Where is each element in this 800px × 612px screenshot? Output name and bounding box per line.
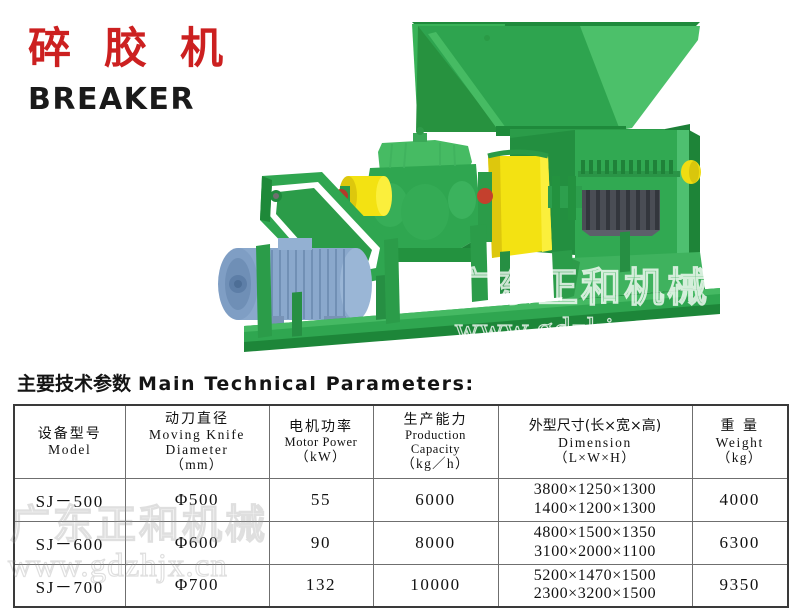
cell-model: SJ－600 [14, 521, 125, 564]
cell-knife-diameter: Φ700 [125, 564, 269, 607]
header-motor-power-en: Motor Power [271, 435, 372, 449]
header-model: 设备型号 Model [14, 405, 125, 479]
header-weight-cn: 重 量 [694, 419, 787, 435]
title-block: 碎 胶 机 BREAKER [28, 28, 232, 115]
page-title-english: BREAKER [28, 85, 232, 115]
header-model-cn: 设备型号 [16, 427, 124, 443]
cell-weight: 6300 [692, 521, 788, 564]
header-dimension-en: Dimension [500, 435, 691, 450]
header-weight-en: Weight [694, 435, 787, 450]
header-capacity-en: Production [375, 428, 497, 442]
cell-model: SJ－500 [14, 479, 125, 522]
cell-dimension-line2: 2300×3200×1500 [500, 585, 691, 604]
cell-dimension: 3800×1250×1300 1400×1200×1300 [498, 479, 692, 522]
header-capacity-unit: （kg／h） [375, 456, 497, 471]
cell-dimension: 5200×1470×1500 2300×3200×1500 [498, 564, 692, 607]
cell-weight: 9350 [692, 564, 788, 607]
table-row: SJ－500 Φ500 55 6000 3800×1250×1300 1400×… [14, 479, 788, 522]
section-heading-chinese: 主要技术参数 [17, 373, 131, 395]
section-heading-english: Main Technical Parameters: [138, 373, 475, 395]
header-knife-diameter-en2: Diameter [127, 442, 268, 457]
header-knife-diameter-en: Moving Knife [127, 427, 268, 442]
cell-capacity: 10000 [373, 564, 498, 607]
cell-dimension-line2: 3100×2000×1100 [500, 543, 691, 562]
cell-knife-diameter: Φ500 [125, 479, 269, 522]
cell-dimension-line2: 1400×1200×1300 [500, 500, 691, 519]
header-knife-diameter-unit: （mm） [127, 457, 268, 472]
header-dimension-cn: 外型尺寸(长×宽×高) [500, 419, 691, 435]
cell-dimension-line1: 3800×1250×1300 [500, 481, 691, 500]
machine-illustration [200, 0, 800, 360]
table-row: SJ－700 Φ700 132 10000 5200×1470×1500 230… [14, 564, 788, 607]
cutter-blades [582, 190, 660, 236]
cell-dimension-line1: 5200×1470×1500 [500, 567, 691, 586]
header-dimension: 外型尺寸(长×宽×高) Dimension （L×W×H） [498, 405, 692, 479]
cell-capacity: 8000 [373, 521, 498, 564]
table-row: SJ－600 Φ600 90 8000 4800×1500×1350 3100×… [14, 521, 788, 564]
header-weight-unit: （kg） [694, 450, 787, 465]
header-motor-power: 电机功率 Motor Power （kW） [269, 405, 373, 479]
page-title-chinese: 碎 胶 机 [28, 28, 232, 71]
table-header-row: 设备型号 Model 动刀直径 Moving Knife Diameter （m… [14, 405, 788, 479]
header-knife-diameter-cn: 动刀直径 [127, 412, 268, 428]
header-motor-power-cn: 电机功率 [271, 420, 372, 436]
product-photo [200, 0, 800, 360]
specifications-table: 设备型号 Model 动刀直径 Moving Knife Diameter （m… [13, 404, 789, 608]
cell-dimension: 4800×1500×1350 3100×2000×1100 [498, 521, 692, 564]
cell-dimension-line1: 4800×1500×1350 [500, 524, 691, 543]
header-capacity-en2: Capacity [375, 442, 497, 456]
section-heading: 主要技术参数Main Technical Parameters: [17, 369, 475, 396]
header-model-en: Model [16, 442, 124, 457]
header-dimension-unit: （L×W×H） [500, 450, 691, 465]
cell-motor-power: 132 [269, 564, 373, 607]
cell-weight: 4000 [692, 479, 788, 522]
header-knife-diameter: 动刀直径 Moving Knife Diameter （mm） [125, 405, 269, 479]
header-weight: 重 量 Weight （kg） [692, 405, 788, 479]
cell-model: SJ－700 [14, 564, 125, 607]
header-motor-power-unit: （kW） [271, 449, 372, 464]
header-capacity: 生产能力 Production Capacity （kg／h） [373, 405, 498, 479]
cell-capacity: 6000 [373, 479, 498, 522]
header-capacity-cn: 生产能力 [375, 413, 497, 429]
cell-knife-diameter: Φ600 [125, 521, 269, 564]
cell-motor-power: 90 [269, 521, 373, 564]
cell-motor-power: 55 [269, 479, 373, 522]
